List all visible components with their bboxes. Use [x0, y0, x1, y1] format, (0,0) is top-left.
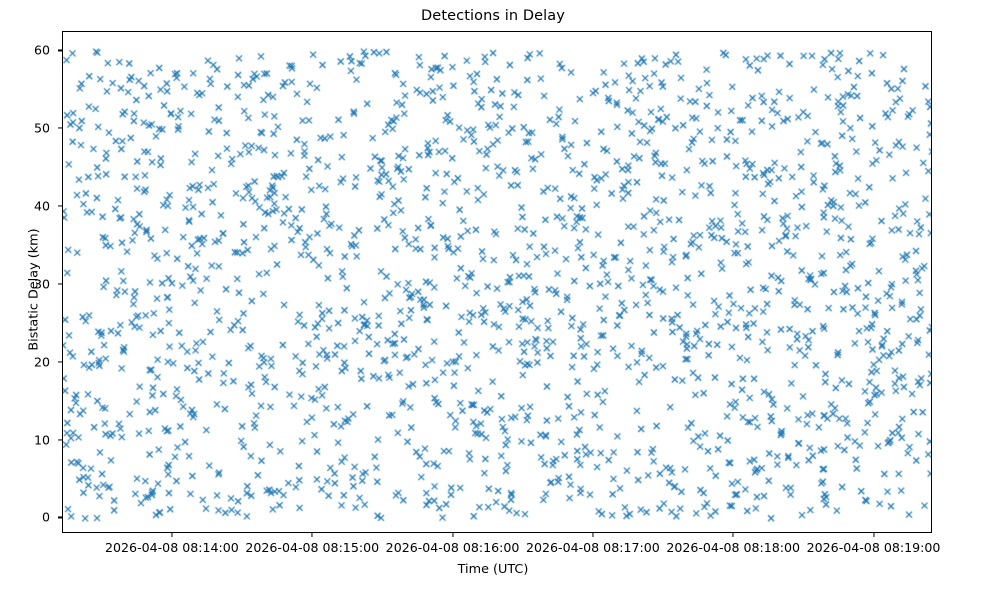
y-tick-mark [58, 128, 62, 129]
x-tick-label: 2026-04-08 08:18:00 [666, 540, 800, 555]
scatter-points-layer [63, 32, 932, 533]
x-tick-mark [873, 533, 874, 537]
x-axis-label: Time (UTC) [0, 562, 986, 577]
x-tick-mark [733, 533, 734, 537]
x-tick-label: 2026-04-08 08:16:00 [386, 540, 520, 555]
y-tick-label: 0 [6, 510, 50, 525]
x-tick-label: 2026-04-08 08:19:00 [807, 540, 941, 555]
y-tick-mark [58, 206, 62, 207]
y-tick-mark [58, 361, 62, 362]
matplotlib-figure: Detections in Delay 0102030405060 2026-0… [0, 0, 986, 590]
page-title: Detections in Delay [0, 8, 986, 24]
y-tick-mark [58, 439, 62, 440]
x-tick-label: 2026-04-08 08:15:00 [245, 540, 379, 555]
scatter-plot-axes [62, 31, 932, 533]
y-axis-label: Bistatic Delay (km) [27, 190, 42, 390]
x-tick-mark [312, 533, 313, 537]
x-tick-mark [171, 533, 172, 537]
y-tick-label: 50 [6, 121, 50, 136]
x-tick-label: 2026-04-08 08:17:00 [526, 540, 660, 555]
y-tick-mark [58, 283, 62, 284]
y-tick-mark [58, 50, 62, 51]
x-tick-mark [452, 533, 453, 537]
x-tick-mark [592, 533, 593, 537]
x-tick-label: 2026-04-08 08:14:00 [105, 540, 239, 555]
y-tick-label: 60 [6, 43, 50, 58]
y-tick-mark [58, 517, 62, 518]
y-tick-label: 10 [6, 432, 50, 447]
